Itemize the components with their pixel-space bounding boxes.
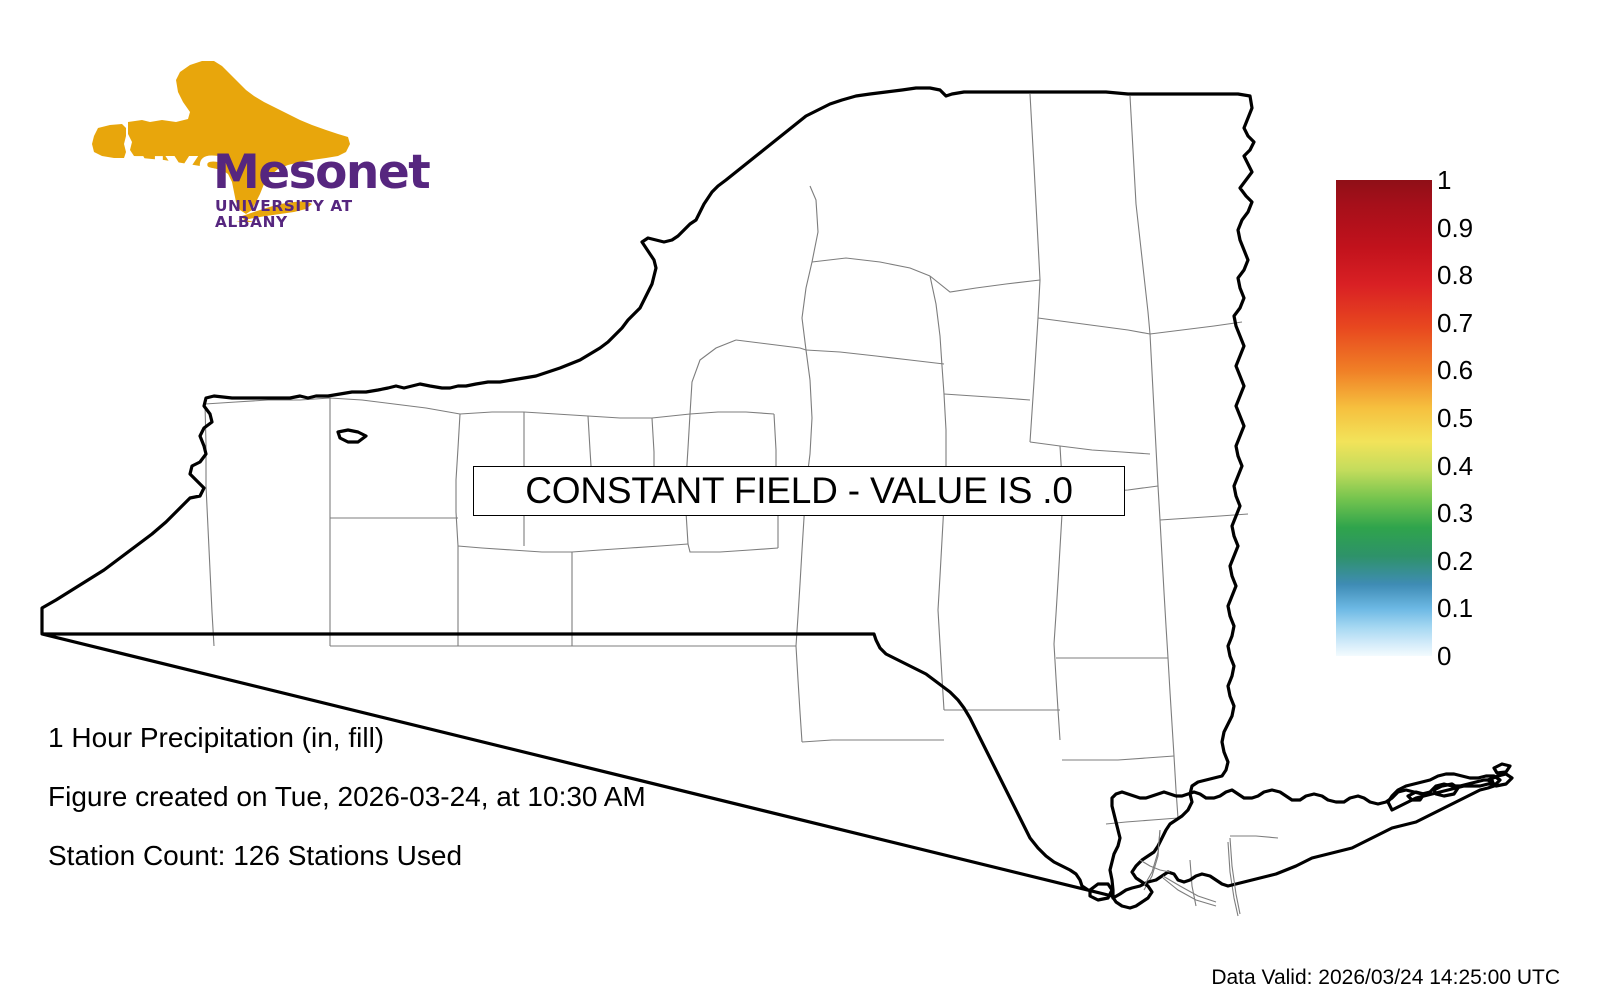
constant-field-banner: CONSTANT FIELD - VALUE IS .0 xyxy=(473,466,1125,516)
colorbar-tick-0-7: 0.7 xyxy=(1437,310,1473,336)
colorbar-tick-0-8: 0.8 xyxy=(1437,262,1473,288)
caption-block: 1 Hour Precipitation (in, fill) Figure c… xyxy=(48,723,646,899)
colorbar-tick-1: 1 xyxy=(1437,167,1451,193)
caption-product: 1 Hour Precipitation (in, fill) xyxy=(48,723,646,754)
figure-canvas: NYS Mesonet UNIVERSITY AT ALBANY xyxy=(0,0,1600,1000)
caption-created: Figure created on Tue, 2026-03-24, at 10… xyxy=(48,782,646,813)
data-valid-footer: Data Valid: 2026/03/24 14:25:00 UTC xyxy=(1211,966,1560,990)
colorbar-tick-0: 0 xyxy=(1437,643,1451,669)
colorbar-tick-0-2: 0.2 xyxy=(1437,548,1473,574)
colorbar-tick-0-9: 0.9 xyxy=(1437,215,1473,241)
colorbar-tick-0-5: 0.5 xyxy=(1437,405,1473,431)
caption-station-count: Station Count: 126 Stations Used xyxy=(48,841,646,872)
colorbar-tick-0-4: 0.4 xyxy=(1437,453,1473,479)
colorbar-tick-labels: 10.90.80.70.60.50.40.30.20.10 xyxy=(1437,164,1527,672)
colorbar-tick-0-6: 0.6 xyxy=(1437,357,1473,383)
long-island-outline xyxy=(1090,764,1512,900)
colorbar-tick-0-1: 0.1 xyxy=(1437,595,1473,621)
constant-field-text: CONSTANT FIELD - VALUE IS .0 xyxy=(525,470,1072,512)
colorbar-gradient xyxy=(1336,180,1432,656)
colorbar-tick-0-3: 0.3 xyxy=(1437,500,1473,526)
long-island-county-lines xyxy=(1140,830,1240,914)
